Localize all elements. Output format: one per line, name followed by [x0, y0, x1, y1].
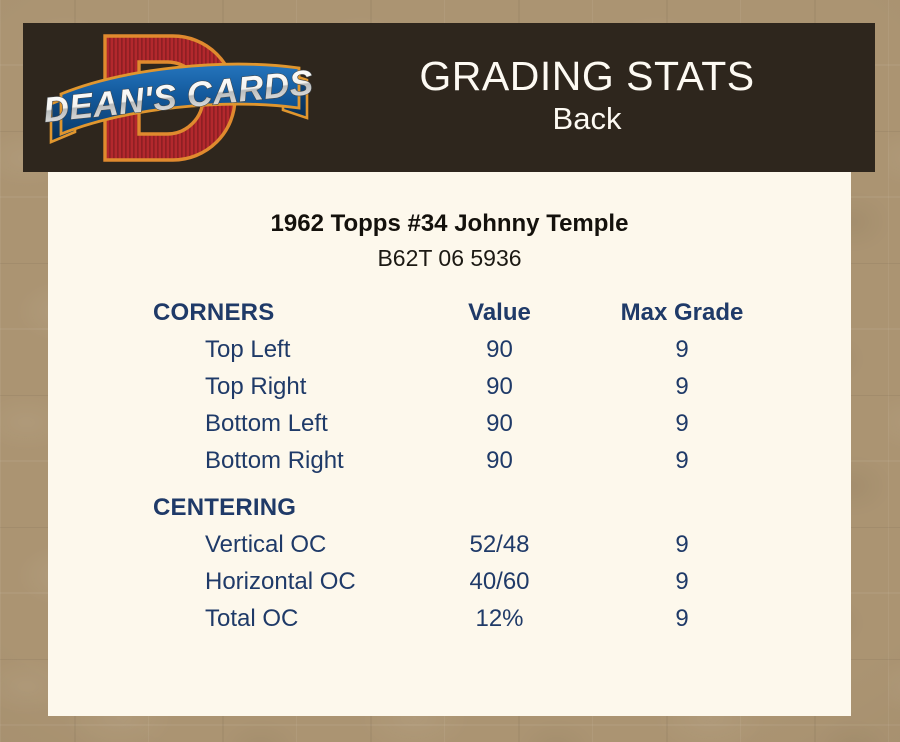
row-value: 40/60 [412, 570, 587, 594]
table-row: Top Left 90 9 [48, 338, 851, 362]
table-row: Horizontal OC 40/60 9 [48, 570, 851, 594]
grading-stats-page: DEAN'S CARDS GRADING STATS Back 1962 Top… [0, 0, 900, 742]
row-value: 90 [412, 412, 587, 436]
table-row: Bottom Left 90 9 [48, 412, 851, 436]
column-header-max-grade: Max Grade [587, 301, 777, 325]
card-code: B62T 06 5936 [48, 246, 851, 271]
row-value: 52/48 [412, 533, 587, 557]
column-header-value: Value [412, 301, 587, 325]
row-max-grade: 9 [587, 449, 777, 473]
row-label: Total OC [48, 607, 412, 631]
deans-cards-logo[interactable]: DEAN'S CARDS [45, 28, 313, 168]
header-bar: DEAN'S CARDS GRADING STATS Back [23, 23, 875, 172]
row-value: 90 [412, 449, 587, 473]
row-label: Bottom Left [48, 412, 412, 436]
table-row: Top Right 90 9 [48, 375, 851, 399]
row-value: 90 [412, 375, 587, 399]
section-title-corners: CORNERS [48, 301, 412, 325]
table-row: Vertical OC 52/48 9 [48, 533, 851, 557]
row-value: 90 [412, 338, 587, 362]
content-panel: 1962 Topps #34 Johnny Temple B62T 06 593… [48, 172, 851, 716]
deans-cards-logo-graphic: DEAN'S CARDS [45, 28, 313, 168]
page-title: GRADING STATS [313, 55, 861, 98]
grading-stats-table: CORNERS Value Max Grade Top Left 90 9 To… [48, 301, 851, 631]
row-max-grade: 9 [587, 375, 777, 399]
row-label: Vertical OC [48, 533, 412, 557]
row-label: Bottom Right [48, 449, 412, 473]
row-max-grade: 9 [587, 412, 777, 436]
header-titles: GRADING STATS Back [313, 55, 875, 139]
page-subtitle: Back [313, 100, 861, 138]
row-max-grade: 9 [587, 533, 777, 557]
row-max-grade: 9 [587, 338, 777, 362]
table-header-row-corners: CORNERS Value Max Grade [48, 301, 851, 325]
card-title: 1962 Topps #34 Johnny Temple [48, 211, 851, 237]
row-max-grade: 9 [587, 570, 777, 594]
section-title-centering: CENTERING [48, 496, 412, 520]
row-max-grade: 9 [587, 607, 777, 631]
table-row: Total OC 12% 9 [48, 607, 851, 631]
table-row: Bottom Right 90 9 [48, 449, 851, 473]
section-header-centering: CENTERING [48, 496, 851, 520]
row-label: Top Left [48, 338, 412, 362]
row-label: Top Right [48, 375, 412, 399]
section-spacer [48, 473, 851, 494]
row-label: Horizontal OC [48, 570, 412, 594]
row-value: 12% [412, 607, 587, 631]
card-identity: 1962 Topps #34 Johnny Temple B62T 06 593… [48, 172, 851, 272]
